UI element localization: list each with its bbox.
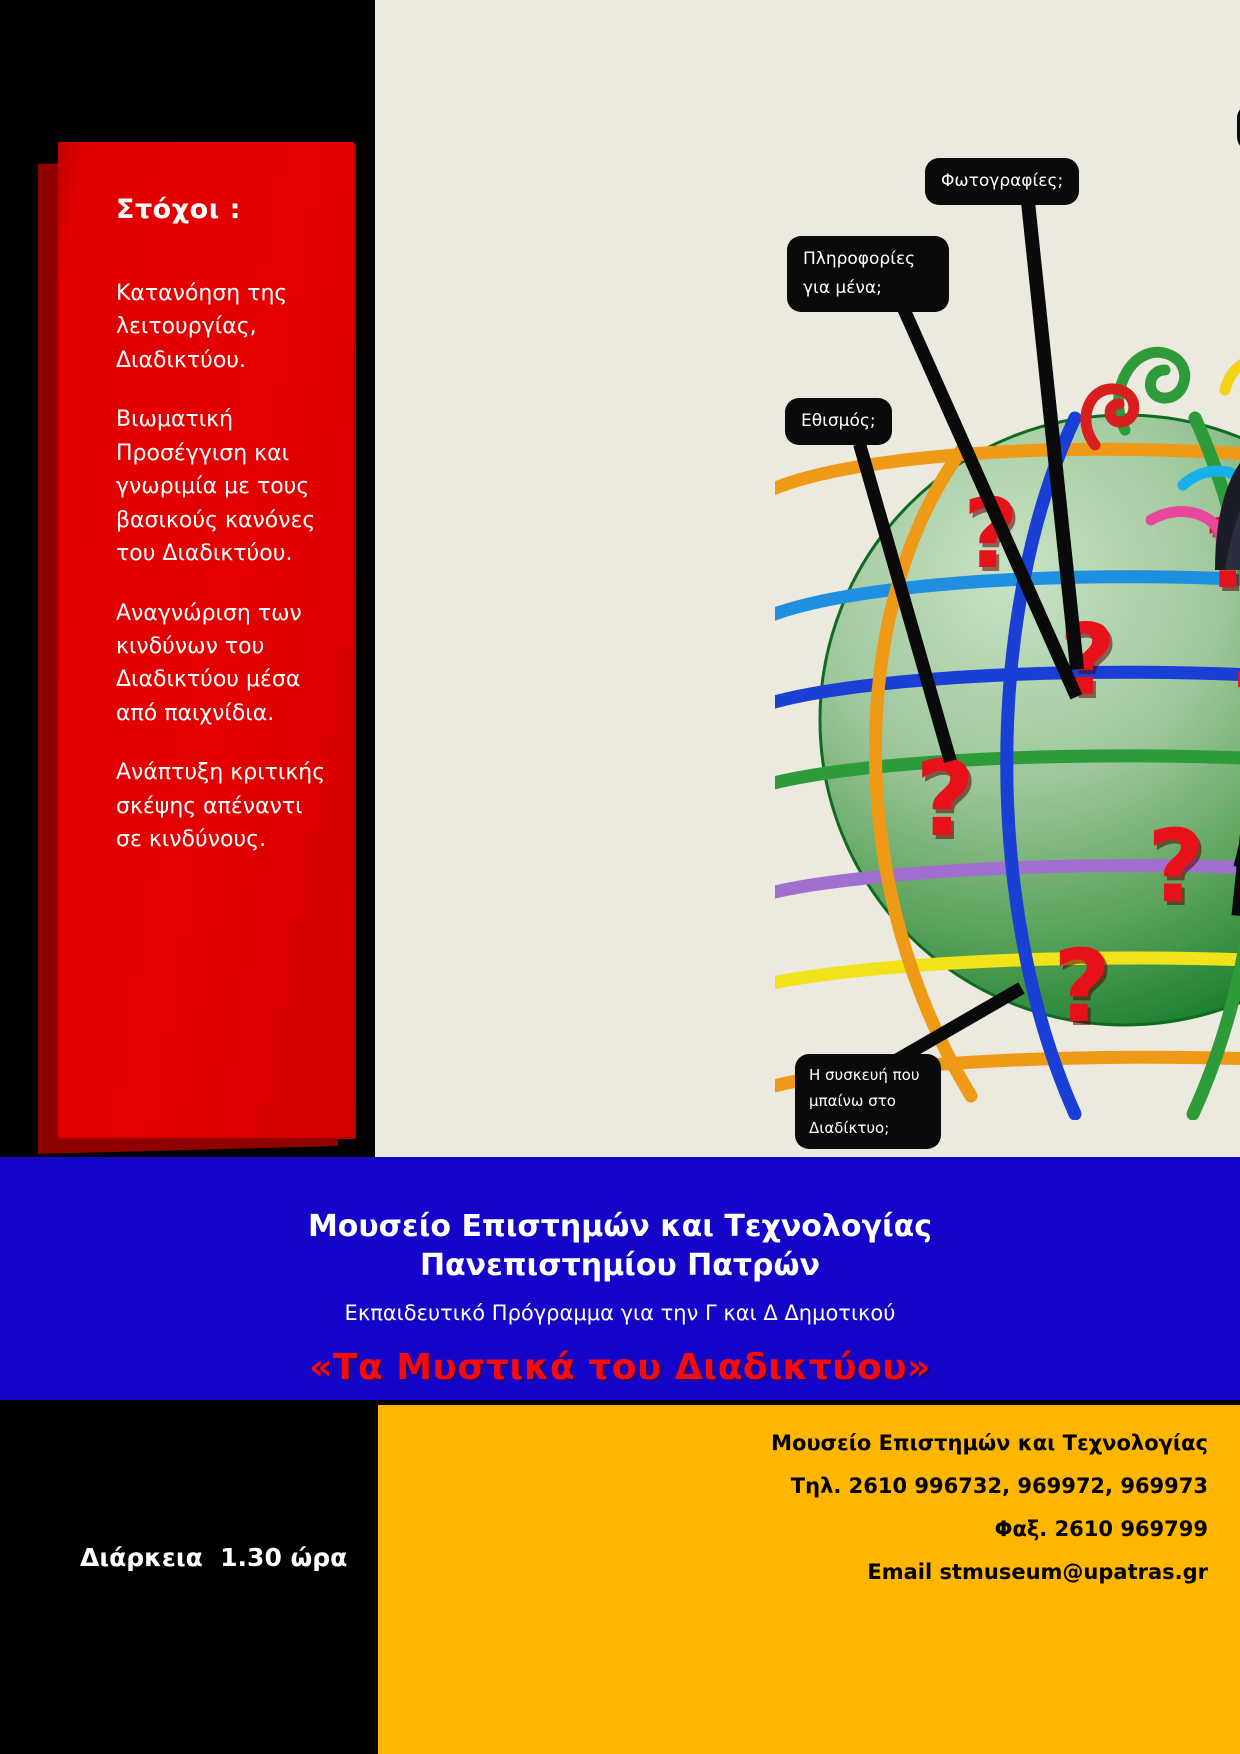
museum-name-line2: Πανεπιστημίου Πατρών: [0, 1246, 1240, 1285]
museum-name-line1: Μουσείο Επιστημών και Τεχνολογίας: [0, 1157, 1240, 1246]
question-mark: ?: [1231, 648, 1240, 770]
contact-museum-name: Μουσείο Επιστημών και Τεχνολογίας: [378, 1405, 1240, 1454]
contact-box: Μουσείο Επιστημών και Τεχνολογίας Τηλ. 2…: [378, 1405, 1240, 1754]
goals-card: Στόχοι : Κατανόηση της λειτουργίας, Διαδ…: [58, 142, 354, 1137]
decorative-curls: [1065, 270, 1240, 600]
goal-item: Ανάπτυξη κριτικής σκέψης απέναντι σε κιν…: [116, 756, 328, 856]
goal-item: Αναγνώριση των κινδύνων του Διαδικτύου μ…: [116, 597, 328, 731]
goal-item: Κατανόηση της λειτουργίας, Διαδικτύου.: [116, 277, 328, 377]
program-description: Εκπαιδευτικό Πρόγραμμα για την Γ και Δ Δ…: [0, 1301, 1240, 1325]
museum-banner: Μουσείο Επιστημών και Τεχνολογίας Πανεπι…: [0, 1157, 1240, 1400]
question-mark: ?: [1147, 808, 1205, 925]
bubble-addiction[interactable]: Εθισμός;: [785, 398, 892, 445]
character-head: [1215, 423, 1240, 570]
program-title: «Τα Μυστικά του Διαδικτύου»: [0, 1347, 1240, 1388]
artwork-panel: ? ? ? ? ? ? ? Παρενόχληση; Φωτογραφίες; …: [375, 0, 1240, 1157]
contact-fax: Φαξ. 2610 969799: [378, 1519, 1240, 1540]
contact-phone: Τηλ. 2610 996732, 969972, 969973: [378, 1476, 1240, 1497]
goal-item: Βιωματική Προσέγγιση και γνωριμία με του…: [116, 403, 328, 570]
bottom-row: Διάρκεια 1.30 ώρα Μουσείο Επιστημών και …: [0, 1400, 1240, 1754]
bubble-photos[interactable]: Φωτογραφίες;: [925, 158, 1079, 205]
question-mark: ?: [1053, 928, 1111, 1045]
bubble-device[interactable]: Η συσκευή που μπαίνω στο Διαδίκτυο;: [795, 1054, 941, 1149]
goals-title: Στόχοι :: [116, 194, 328, 225]
bubble-info[interactable]: Πληροφορίες για μένα;: [787, 236, 949, 312]
duration-label: Διάρκεια 1.30 ώρα: [80, 1543, 347, 1572]
poster-root: ? ? ? ? ? ? ? Παρενόχληση; Φωτογραφίες; …: [0, 0, 1240, 1754]
contact-email[interactable]: Email stmuseum@upatras.gr: [378, 1562, 1240, 1583]
